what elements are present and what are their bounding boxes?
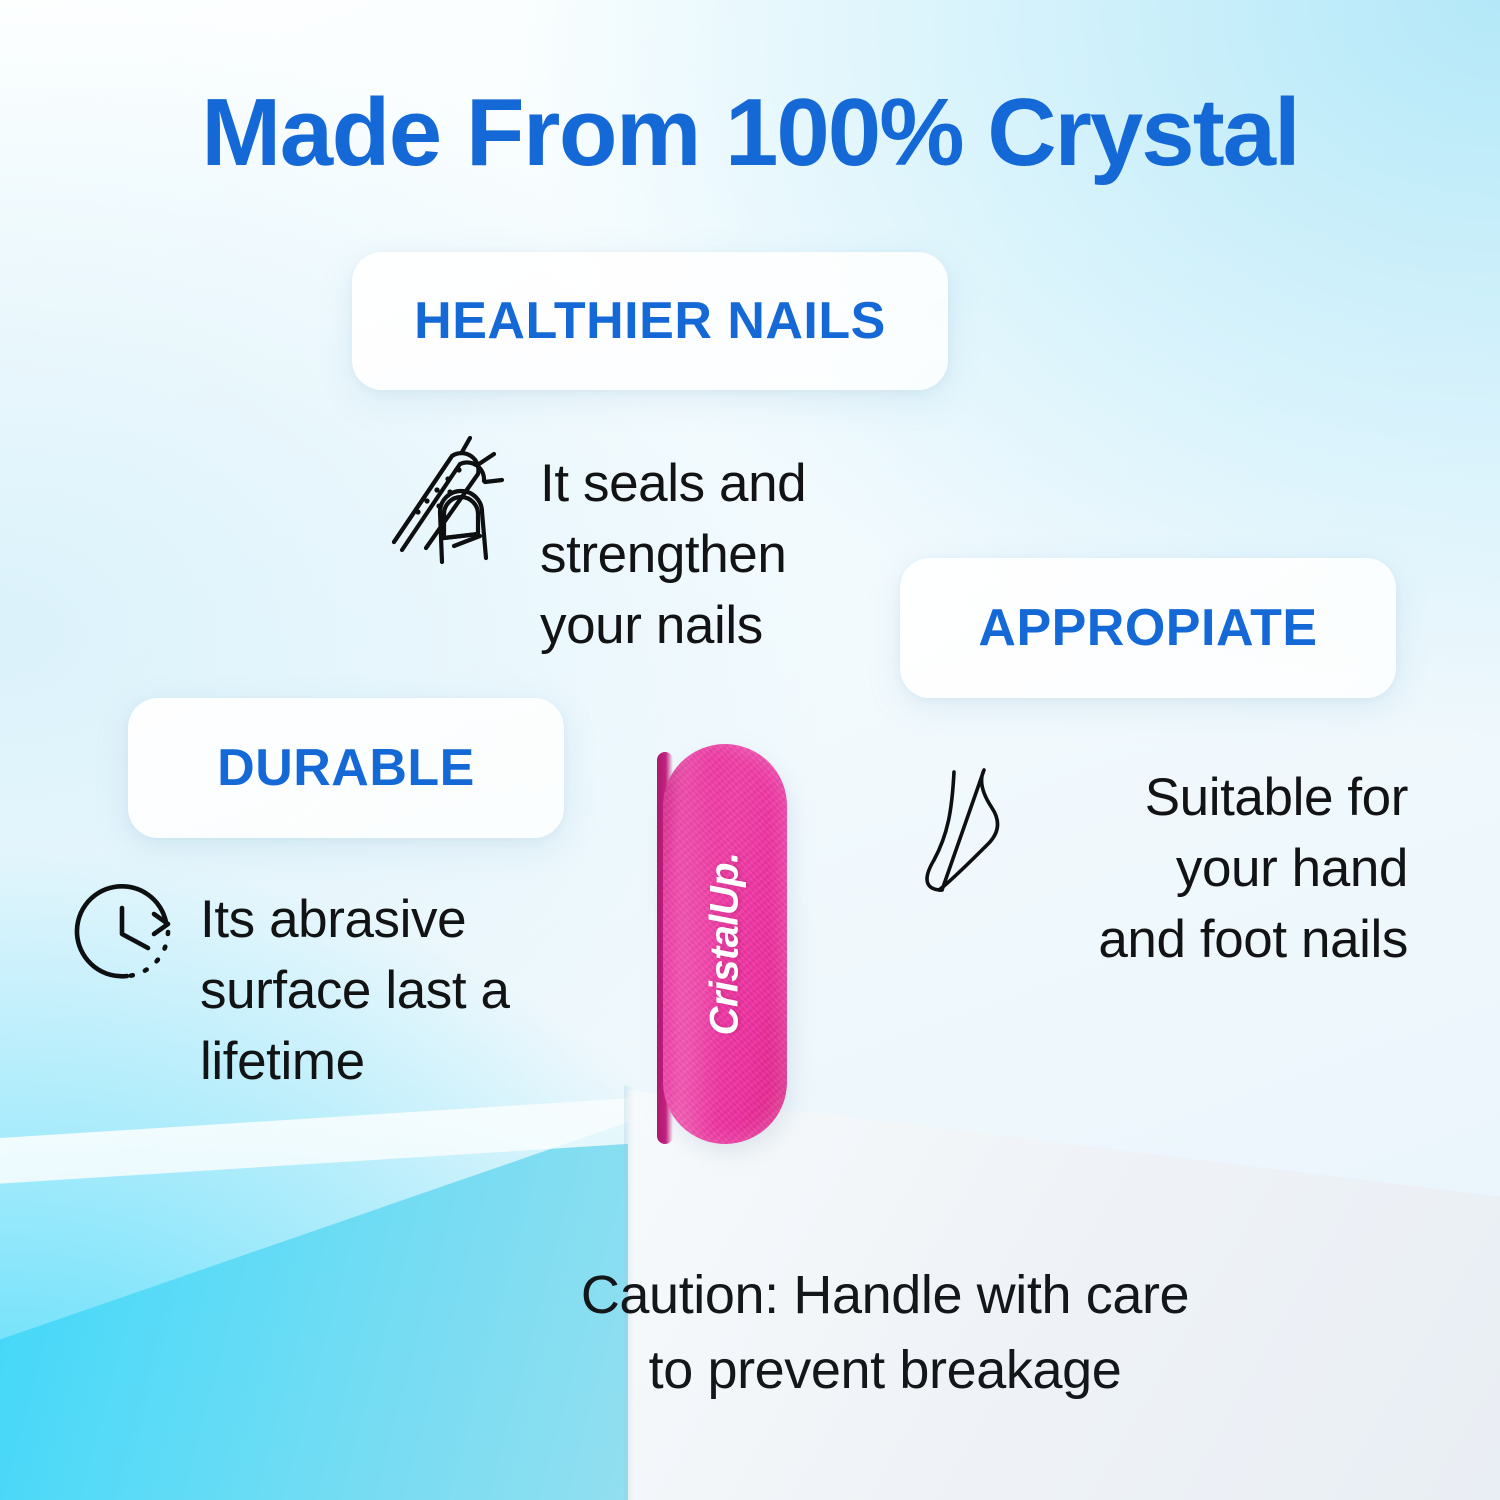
title-light-part: Made From — [201, 79, 725, 186]
badge-durable-label: DURABLE — [217, 738, 475, 798]
feature-lifetime: Its abrasive surface last a lifetime — [72, 876, 512, 1097]
feature-seals-text: It seals and strengthen your nails — [540, 430, 852, 661]
clock-arrow-icon — [72, 876, 182, 986]
title-bold-part: 100% Crystal — [725, 79, 1299, 186]
feature-hand-foot-text: Suitable for your hand and foot nails — [1076, 756, 1408, 975]
caution-line-2: to prevent breakage — [450, 1333, 1320, 1408]
badge-healthier-nails: HEALTHIER NAILS — [352, 252, 948, 390]
foot-outline-icon — [908, 756, 1058, 906]
feature-lifetime-text: Its abrasive surface last a lifetime — [200, 876, 512, 1097]
feature-hand-foot: Suitable for your hand and foot nails — [908, 756, 1408, 975]
infographic-canvas: Made From 100% Crystal HEALTHIER NAILS A… — [0, 0, 1500, 1500]
badge-appropiate-label: APPROPIATE — [978, 598, 1317, 658]
badge-appropiate: APPROPIATE — [900, 558, 1396, 698]
badge-durable: DURABLE — [128, 698, 564, 838]
badge-healthier-nails-label: HEALTHIER NAILS — [414, 291, 886, 351]
caution-line-1: Caution: Handle with care — [450, 1258, 1320, 1333]
product-body: CristalUp. — [663, 744, 787, 1144]
page-title: Made From 100% Crystal — [0, 82, 1500, 184]
crystal-nail-file-product: CristalUp. — [663, 744, 791, 1148]
caution-note: Caution: Handle with care to prevent bre… — [450, 1258, 1320, 1407]
nail-file-sparkle-icon — [382, 430, 522, 570]
product-brand-label: CristalUp. — [703, 853, 748, 1036]
feature-seals-strengthen: It seals and strengthen your nails — [382, 430, 852, 661]
